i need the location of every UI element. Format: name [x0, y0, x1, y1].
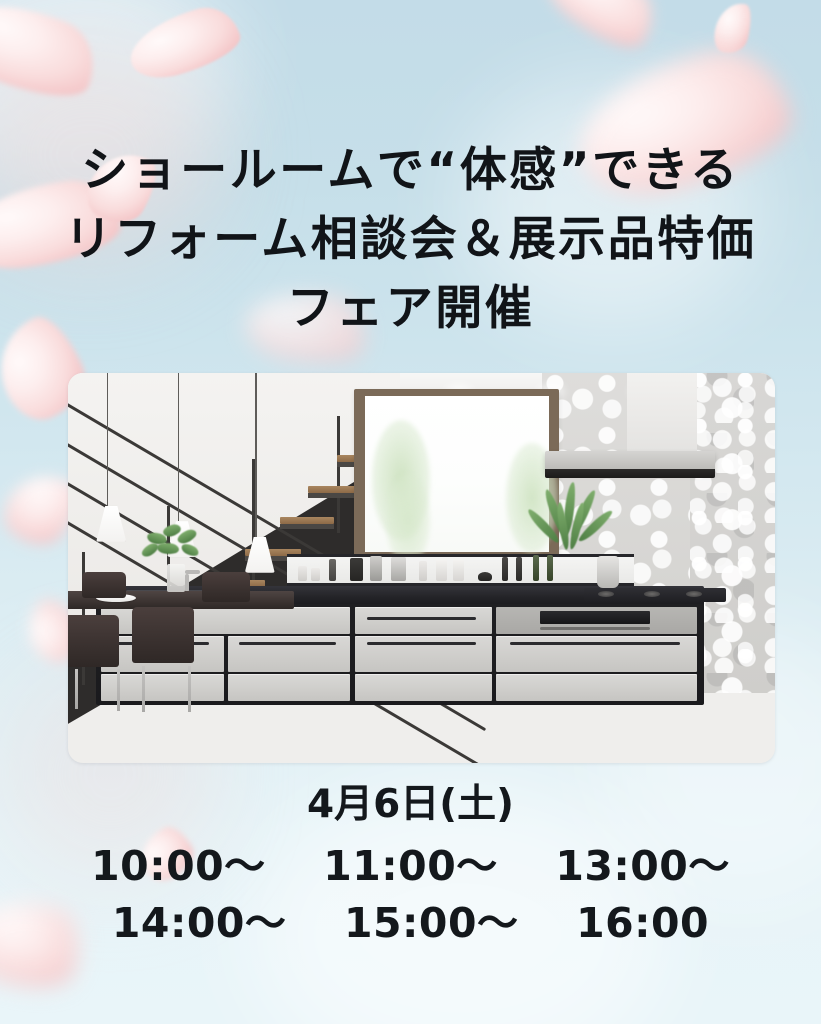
headline: ショールームで“体感”できる リフォーム相談会＆展示品特価 フェア開催 [0, 136, 821, 343]
photo-dining-chair [82, 572, 126, 598]
photo-cabinet-door [355, 674, 492, 701]
photo-back-shelf [287, 554, 633, 587]
photo-vase [167, 564, 185, 592]
photo-stair-tread [308, 486, 360, 493]
showroom-photo [68, 373, 775, 763]
photo-cabinet-door [228, 636, 351, 672]
photo-cabinet-handle [367, 617, 476, 620]
event-date-text: 4月6日(土) [0, 779, 821, 831]
photo-shelf-item [329, 559, 336, 581]
photo-cabinet-door [355, 607, 492, 634]
time-slot: 14:00〜 [112, 895, 287, 952]
photo-shelf-item [516, 557, 522, 581]
photo-chair-leg [142, 666, 145, 712]
photo-shelf-item [311, 568, 320, 581]
photo-oven-window [540, 611, 649, 624]
photo-shelf-item [298, 566, 307, 581]
photo-shelf-item [478, 572, 492, 581]
photo-dining-chair [132, 607, 194, 663]
photo-shelf-item [453, 559, 464, 581]
photo-cabinet-door [228, 674, 351, 701]
time-row-1: 10:00〜 11:00〜 13:00〜 [0, 838, 821, 895]
photo-pendant-cord [178, 373, 180, 521]
photo-gas-hob [584, 588, 725, 601]
time-slot: 13:00〜 [555, 838, 730, 895]
time-slot: 15:00〜 [344, 895, 519, 952]
photo-shelf-item [370, 556, 382, 581]
time-slot: 11:00〜 [323, 838, 498, 895]
photo-chair-leg [188, 666, 191, 712]
photo-faucet [185, 574, 189, 592]
photo-shelf-item [547, 555, 553, 581]
headline-line-3: フェア開催 [0, 274, 821, 343]
photo-shelf-item [436, 559, 447, 581]
photo-cabinet-door [355, 636, 492, 672]
event-date: 4月6日(土) [0, 779, 821, 831]
photo-pendant-cord [107, 373, 109, 506]
photo-shelf-item [350, 558, 363, 581]
photo-range-hood-lip [545, 469, 715, 479]
headline-line-2: リフォーム相談会＆展示品特価 [0, 205, 821, 274]
photo-chair-leg [75, 669, 78, 709]
photo-pendant-cord [255, 373, 257, 537]
photo-shelf-item [391, 557, 406, 581]
photo-hood-chimney [627, 373, 698, 459]
photo-stair-tread [280, 517, 334, 524]
sakura-petal-icon [532, 0, 667, 62]
sakura-petal-icon [0, 0, 108, 113]
photo-table-greenery [139, 525, 209, 565]
time-row-2: 14:00〜 15:00〜 16:00 [0, 895, 821, 952]
photo-cabinet-door [496, 674, 697, 701]
headline-line-1: ショールームで“体感”できる [0, 136, 821, 205]
event-times: 10:00〜 11:00〜 13:00〜 14:00〜 15:00〜 16:00 [0, 838, 821, 952]
poster-root: ショールームで“体感”できる リフォーム相談会＆展示品特価 フェア開催 [0, 0, 821, 1024]
photo-shelf-item [419, 561, 427, 581]
time-slot: 16:00 [576, 895, 709, 952]
photo-rail-post [337, 416, 340, 533]
photo-shelf-item [502, 557, 508, 581]
sakura-petal-icon [710, 0, 756, 57]
photo-shelf-item [533, 555, 539, 581]
photo-kettle [597, 556, 619, 588]
photo-tree-outside [386, 474, 430, 566]
photo-dining-chair [202, 572, 250, 602]
photo-oven-handle [540, 627, 649, 630]
time-slot: 10:00〜 [91, 838, 266, 895]
photo-potted-plant [535, 482, 615, 564]
sakura-petal-icon [122, 0, 246, 86]
photo-chair-leg [117, 669, 120, 711]
photo-cabinet-door [496, 636, 697, 672]
photo-dining-chair [68, 615, 119, 667]
